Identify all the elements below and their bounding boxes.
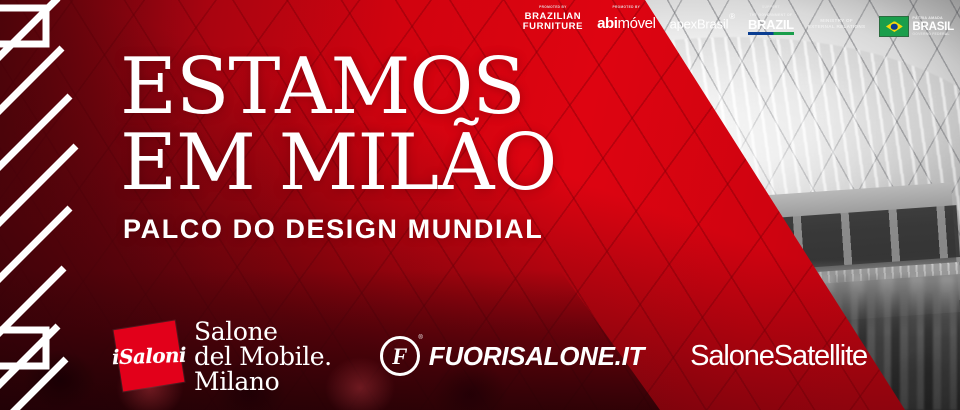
abimovel-light: móvel <box>618 15 656 32</box>
ministry-logo: MINISTRY OF EXTERNAL RELATIONS <box>808 18 866 30</box>
headline-subtitle: PALCO DO DESIGN MUNDIAL <box>123 214 640 245</box>
headline-line-1: ESTAMOS <box>120 52 640 124</box>
abimovel-bold: abi <box>597 15 617 32</box>
sponsor-kicker: PROMOTED BY <box>539 6 567 9</box>
salone-line-2: del Mobile. <box>194 344 332 369</box>
brazil-milan-sub: MILAN <box>748 36 794 41</box>
registered-mark-icon: ® <box>729 12 735 21</box>
brazilian-furniture-line-2: FURNITURE <box>523 22 583 32</box>
headline-line-2: EM MILÃO <box>120 128 640 200</box>
isaloni-mark-text: iSaloni <box>112 343 187 370</box>
patria-name: BRASIL <box>912 21 954 33</box>
patria-amada-brasil-logo: PÁTRIA AMADA BRASIL GOVERNO FEDERAL <box>879 16 954 37</box>
ministry-line-2: EXTERNAL RELATIONS <box>808 24 866 30</box>
brazil-milan-name: BRAZIL <box>748 18 794 31</box>
sponsor-logo-strip: PROMOTED BY BRAZILIAN FURNITURE PROMOTED… <box>523 6 954 46</box>
abimovel-logo: abimóvel <box>597 16 656 31</box>
salone-line-3: Milano <box>194 369 332 394</box>
salone-del-mobile-wordmark[interactable]: Salone del Mobile. Milano <box>194 319 332 394</box>
isaloni-mark-icon[interactable]: iSaloni <box>114 321 185 392</box>
sponsor-apexbrasil: apexBrasil® <box>670 6 734 30</box>
sponsor-brazilian-furniture: PROMOTED BY BRAZILIAN FURNITURE <box>523 6 583 31</box>
fuorisalone-logo[interactable]: F ® FUORISALONE.IT <box>380 336 644 376</box>
partner-logo-row: iSaloni Salone del Mobile. Milano F ® FU… <box>118 316 960 396</box>
apexbrasil-logo: apexBrasil® <box>670 14 734 30</box>
registered-mark-icon: ® <box>418 335 422 341</box>
sponsor-patria-amada-brasil: PÁTRIA AMADA BRASIL GOVERNO FEDERAL <box>879 6 954 37</box>
sponsor-abimovel: PROMOTED BY abimóvel <box>597 6 656 31</box>
sponsor-kicker: SUPPORT <box>762 6 780 9</box>
flag-globe-icon <box>891 23 898 30</box>
fair-promo-banner: ESTAMOS EM MILÃO PALCO DO DESIGN MUNDIAL… <box>0 0 960 410</box>
brazil-milan-logo: THE GOVERNMENT OF BRAZIL MILAN <box>748 14 794 40</box>
headline-block: ESTAMOS EM MILÃO PALCO DO DESIGN MUNDIAL <box>120 52 640 245</box>
sponsor-brazil-milan: SUPPORT THE GOVERNMENT OF BRAZIL MILAN <box>748 6 794 41</box>
sponsor-kicker: PROMOTED BY <box>613 6 641 9</box>
patria-sub: GOVERNO FEDERAL <box>912 33 954 36</box>
apexbrasil-word: apexBrasil <box>670 16 729 31</box>
brazil-flag-bar-icon <box>748 32 794 35</box>
fuorisalone-f-letter: F <box>392 345 407 368</box>
patria-text-block: PÁTRIA AMADA BRASIL GOVERNO FEDERAL <box>912 17 954 36</box>
sponsor-ministry-external-relations: MINISTRY OF EXTERNAL RELATIONS <box>808 6 866 30</box>
fuorisalone-circle-f-icon: F ® <box>380 336 420 376</box>
fuorisalone-wordmark: FUORISALONE.IT <box>429 343 644 369</box>
brazil-flag-icon <box>879 16 909 37</box>
brazilian-furniture-logo: BRAZILIAN FURNITURE <box>523 12 583 31</box>
salone-satellite-wordmark[interactable]: SaloneSatellite <box>690 342 867 371</box>
salone-line-1: Salone <box>194 319 332 344</box>
chevron-pattern-icon <box>0 0 130 410</box>
